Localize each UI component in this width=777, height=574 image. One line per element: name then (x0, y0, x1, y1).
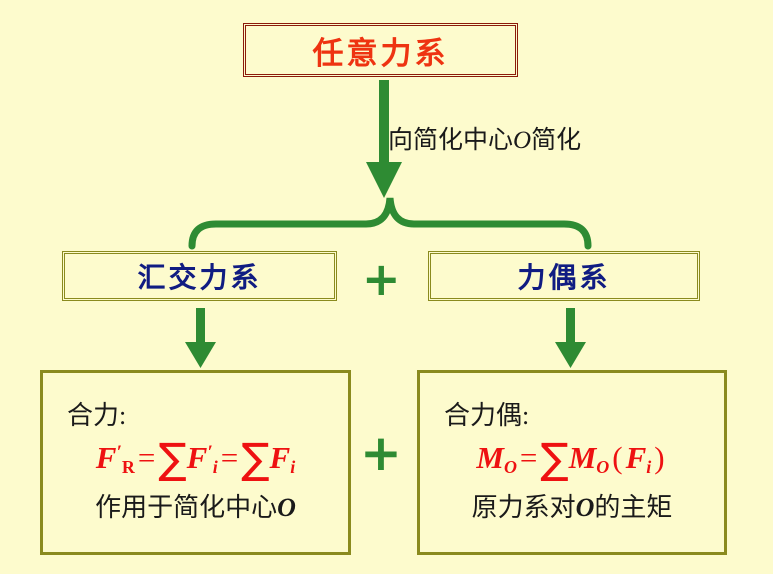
reduction-label-suffix: 简化 (531, 127, 581, 154)
resultant-force-caption: 合力: (67, 401, 126, 431)
reduction-label-prefix: 向简化中心 (388, 127, 513, 154)
reduction-label-italic: O (513, 127, 531, 154)
formula-term1-symbol: F (187, 440, 208, 475)
curly-brace-icon (150, 190, 630, 250)
node-resultant-couple[interactable]: 合力偶: MO=∑MO(Fi) 原力系对O的主矩 (417, 370, 727, 555)
footnote-prefix-left: 作用于简化中心 (95, 493, 277, 522)
plus-operator-middle: + (362, 256, 401, 302)
node-couple-system[interactable]: 力偶系 (428, 251, 700, 301)
down-arrow-icon-right (552, 308, 590, 370)
moment-term2-symbol: F (626, 440, 647, 475)
formula-term2-sub: i (290, 457, 295, 477)
summation-icon-1: ∑ (158, 434, 186, 483)
resultant-couple-caption: 合力偶: (444, 401, 529, 431)
footnote-suffix-right: 的主矩 (594, 493, 672, 522)
node-label-mid-left: 汇交力系 (137, 256, 261, 296)
resultant-couple-formula: MO=∑MO(Fi) (476, 434, 667, 483)
summation-icon-2: ∑ (241, 434, 269, 483)
moment-eq-1: = (517, 440, 540, 475)
diagram-canvas: 任意力系 向简化中心O简化 汇交力系 + 力偶系 合力: F′R=∑F′i=∑F… (0, 0, 777, 574)
moment-lhs-symbol: M (476, 440, 504, 475)
formula-eq-1: = (135, 440, 158, 475)
moment-close-paren: ) (651, 440, 667, 475)
formula-eq-2: = (218, 440, 241, 475)
down-arrow-icon-left (182, 308, 220, 370)
footnote-prefix-right: 原力系对 (472, 493, 576, 522)
moment-lhs-sub: O (504, 457, 517, 477)
right-edge-strip (773, 0, 777, 574)
resultant-force-footnote: 作用于简化中心O (95, 487, 296, 524)
node-concurrent-force-system[interactable]: 汇交力系 (62, 251, 337, 301)
moment-term1-sub: O (596, 457, 609, 477)
moment-open-paren: ( (609, 440, 625, 475)
node-label-top: 任意力系 (313, 28, 449, 73)
formula-lhs-sub: R (122, 457, 135, 477)
footnote-italic-left: O (277, 493, 296, 522)
footnote-italic-right: O (576, 493, 595, 522)
formula-term2-symbol: F (270, 440, 291, 475)
formula-term1-sub: i (213, 457, 218, 477)
moment-term1-symbol: M (569, 440, 597, 475)
resultant-couple-footnote: 原力系对O的主矩 (472, 487, 673, 524)
summation-icon-3: ∑ (540, 434, 568, 483)
node-label-mid-right: 力偶系 (517, 256, 610, 296)
plus-operator-bottom: + (360, 428, 402, 478)
formula-lhs-symbol: F (96, 440, 117, 475)
node-resultant-force[interactable]: 合力: F′R=∑F′i=∑Fi 作用于简化中心O (40, 370, 351, 555)
resultant-force-formula: F′R=∑F′i=∑Fi (96, 434, 295, 483)
node-arbitrary-force-system[interactable]: 任意力系 (243, 23, 518, 77)
reduction-arrow-label: 向简化中心O简化 (388, 120, 581, 156)
